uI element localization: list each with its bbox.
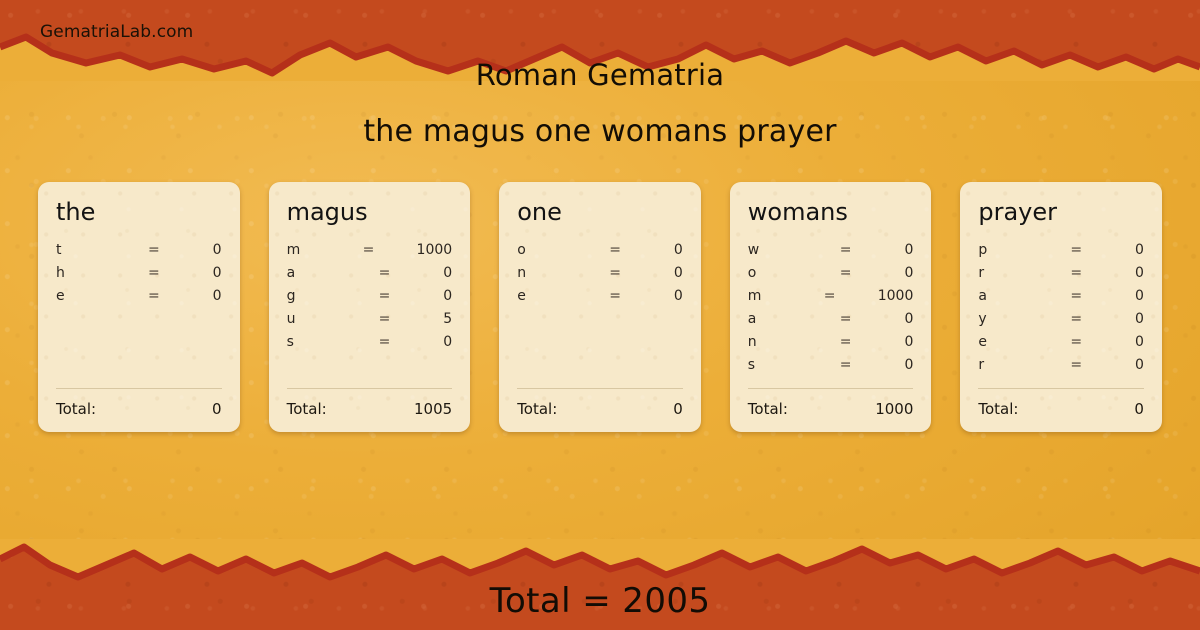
gematria-result-image: GematriaLab.com Roman Gematria the magus… <box>0 0 1200 630</box>
letter-value-row: g=0 <box>287 288 453 311</box>
letter-value: 0 <box>160 265 222 281</box>
letter-value-row: a=0 <box>978 288 1144 311</box>
equals-sign: = <box>148 265 160 281</box>
letter-value-row: o=0 <box>748 265 914 288</box>
letter-value: 0 <box>1082 265 1144 281</box>
letter-value: 0 <box>621 288 683 304</box>
equals-sign: = <box>840 334 852 350</box>
card-word-title: womans <box>748 200 914 224</box>
letter-value: 1000 <box>374 242 452 258</box>
letter-value-row: o=0 <box>517 242 683 265</box>
equals-sign: = <box>379 265 391 281</box>
letter-value: 0 <box>852 265 914 281</box>
equals-sign: = <box>1070 357 1082 373</box>
letter-char: h <box>56 265 148 281</box>
grand-total-text: Total = 2005 <box>0 581 1200 621</box>
card-total-value: 0 <box>557 400 683 418</box>
card-total-label: Total: <box>978 400 1018 418</box>
letter-char: t <box>56 242 148 258</box>
letter-value: 0 <box>852 334 914 350</box>
letter-char: o <box>517 242 609 258</box>
letter-value: 0 <box>621 242 683 258</box>
site-watermark: GematriaLab.com <box>40 22 193 42</box>
equals-sign: = <box>1070 311 1082 327</box>
letter-value: 0 <box>390 334 452 350</box>
letter-char: n <box>517 265 609 281</box>
input-phrase: the magus one womans prayer <box>0 114 1200 149</box>
equals-sign: = <box>379 288 391 304</box>
letter-value-row: u=5 <box>287 311 453 334</box>
letter-char: r <box>978 357 1070 373</box>
card-total-row: Total:0 <box>978 389 1144 418</box>
equals-sign: = <box>840 242 852 258</box>
letter-value-row: a=0 <box>748 311 914 334</box>
equals-sign: = <box>840 265 852 281</box>
card-total-label: Total: <box>517 400 557 418</box>
letter-value-row: w=0 <box>748 242 914 265</box>
letter-char: o <box>748 265 840 281</box>
equals-sign: = <box>609 242 621 258</box>
equals-sign: = <box>1070 288 1082 304</box>
equals-sign: = <box>1070 242 1082 258</box>
equals-sign: = <box>840 311 852 327</box>
letter-char: n <box>748 334 840 350</box>
letter-value-list: o=0n=0e=0 <box>517 242 683 380</box>
letter-value-list: m=1000a=0g=0u=5s=0 <box>287 242 453 380</box>
card-total-value: 0 <box>1018 400 1144 418</box>
letter-char: m <box>287 242 363 258</box>
card-total-label: Total: <box>287 400 327 418</box>
card-total-row: Total:0 <box>56 389 222 418</box>
equals-sign: = <box>379 311 391 327</box>
letter-char: y <box>978 311 1070 327</box>
letter-value: 0 <box>1082 357 1144 373</box>
card-total-label: Total: <box>56 400 96 418</box>
equals-sign: = <box>1070 265 1082 281</box>
letter-value-row: s=0 <box>287 334 453 357</box>
letter-char: w <box>748 242 840 258</box>
header-block: Roman Gematria the magus one womans pray… <box>0 58 1200 149</box>
letter-value-row: n=0 <box>748 334 914 357</box>
letter-char: a <box>287 265 379 281</box>
letter-char: m <box>748 288 824 304</box>
card-word-title: one <box>517 200 683 224</box>
letter-value: 0 <box>852 311 914 327</box>
letter-char: u <box>287 311 379 327</box>
word-card: magusm=1000a=0g=0u=5s=0Total:1005 <box>269 182 471 432</box>
letter-value-row: r=0 <box>978 265 1144 288</box>
word-card: prayerp=0r=0a=0y=0e=0r=0Total:0 <box>960 182 1162 432</box>
letter-value: 0 <box>160 288 222 304</box>
letter-value: 0 <box>390 288 452 304</box>
letter-value-row: r=0 <box>978 357 1144 380</box>
gematria-system-title: Roman Gematria <box>0 58 1200 92</box>
bottom-torn-edge-icon <box>0 539 1200 587</box>
card-total-label: Total: <box>748 400 788 418</box>
letter-char: a <box>748 311 840 327</box>
letter-value-row: e=0 <box>978 334 1144 357</box>
letter-value: 0 <box>621 265 683 281</box>
card-word-title: the <box>56 200 222 224</box>
letter-value-row: a=0 <box>287 265 453 288</box>
letter-value: 0 <box>852 242 914 258</box>
letter-value: 0 <box>852 357 914 373</box>
letter-value-list: p=0r=0a=0y=0e=0r=0 <box>978 242 1144 380</box>
letter-value: 5 <box>390 311 452 327</box>
letter-char: e <box>517 288 609 304</box>
equals-sign: = <box>609 288 621 304</box>
letter-char: s <box>748 357 840 373</box>
letter-char: g <box>287 288 379 304</box>
letter-char: e <box>978 334 1070 350</box>
equals-sign: = <box>148 288 160 304</box>
card-total-value: 1005 <box>327 400 453 418</box>
letter-char: r <box>978 265 1070 281</box>
letter-char: p <box>978 242 1070 258</box>
word-card: womansw=0o=0m=1000a=0n=0s=0Total:1000 <box>730 182 932 432</box>
letter-value-row: e=0 <box>56 288 222 311</box>
letter-value: 0 <box>390 265 452 281</box>
equals-sign: = <box>609 265 621 281</box>
letter-value: 0 <box>160 242 222 258</box>
equals-sign: = <box>379 334 391 350</box>
equals-sign: = <box>148 242 160 258</box>
card-total-row: Total:0 <box>517 389 683 418</box>
word-card: thet=0h=0e=0Total:0 <box>38 182 240 432</box>
letter-value-row: m=1000 <box>748 288 914 311</box>
letter-value: 0 <box>1082 288 1144 304</box>
equals-sign: = <box>363 242 375 258</box>
letter-char: e <box>56 288 148 304</box>
letter-value: 0 <box>1082 311 1144 327</box>
letter-value: 0 <box>1082 242 1144 258</box>
letter-value-row: e=0 <box>517 288 683 311</box>
letter-value-list: w=0o=0m=1000a=0n=0s=0 <box>748 242 914 380</box>
letter-char: s <box>287 334 379 350</box>
letter-value-row: y=0 <box>978 311 1144 334</box>
equals-sign: = <box>824 288 836 304</box>
letter-value: 1000 <box>836 288 914 304</box>
letter-value-row: p=0 <box>978 242 1144 265</box>
card-total-value: 0 <box>96 400 222 418</box>
letter-value-row: s=0 <box>748 357 914 380</box>
equals-sign: = <box>840 357 852 373</box>
card-word-title: prayer <box>978 200 1144 224</box>
word-card: oneo=0n=0e=0Total:0 <box>499 182 701 432</box>
letter-value-list: t=0h=0e=0 <box>56 242 222 380</box>
letter-value-row: t=0 <box>56 242 222 265</box>
equals-sign: = <box>1070 334 1082 350</box>
card-total-row: Total:1000 <box>748 389 914 418</box>
letter-value-row: h=0 <box>56 265 222 288</box>
card-total-value: 1000 <box>788 400 914 418</box>
card-total-row: Total:1005 <box>287 389 453 418</box>
letter-value: 0 <box>1082 334 1144 350</box>
word-cards-container: thet=0h=0e=0Total:0magusm=1000a=0g=0u=5s… <box>38 182 1162 432</box>
letter-char: a <box>978 288 1070 304</box>
card-word-title: magus <box>287 200 453 224</box>
letter-value-row: n=0 <box>517 265 683 288</box>
letter-value-row: m=1000 <box>287 242 453 265</box>
